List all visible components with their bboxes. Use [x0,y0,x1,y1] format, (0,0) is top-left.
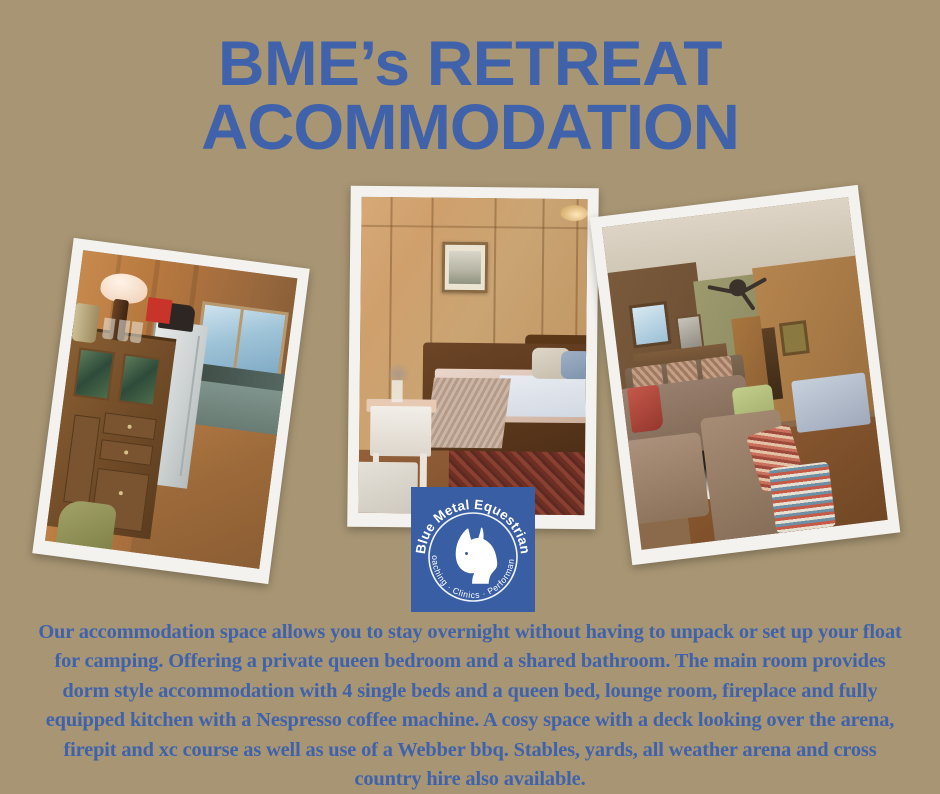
title-line-2: ACOMMODATION [0,96,940,159]
title-line-1: BME’s RETREAT [0,34,940,96]
photo-lounge [590,185,901,565]
page-title: BME’s RETREAT ACOMMODATION [0,34,940,158]
photo-bedroom [347,186,599,530]
photo-kitchen [32,238,309,584]
horse-head-icon [456,528,498,584]
photo-kitchen-image [45,250,297,569]
description-paragraph: Our accommodation space allows you to st… [34,618,906,794]
photo-lounge-image [602,197,888,550]
photo-bedroom-image [358,197,587,515]
logo-blue-metal-equestrian: Blue Metal Equestrian Coaching · Clinics… [411,487,535,612]
